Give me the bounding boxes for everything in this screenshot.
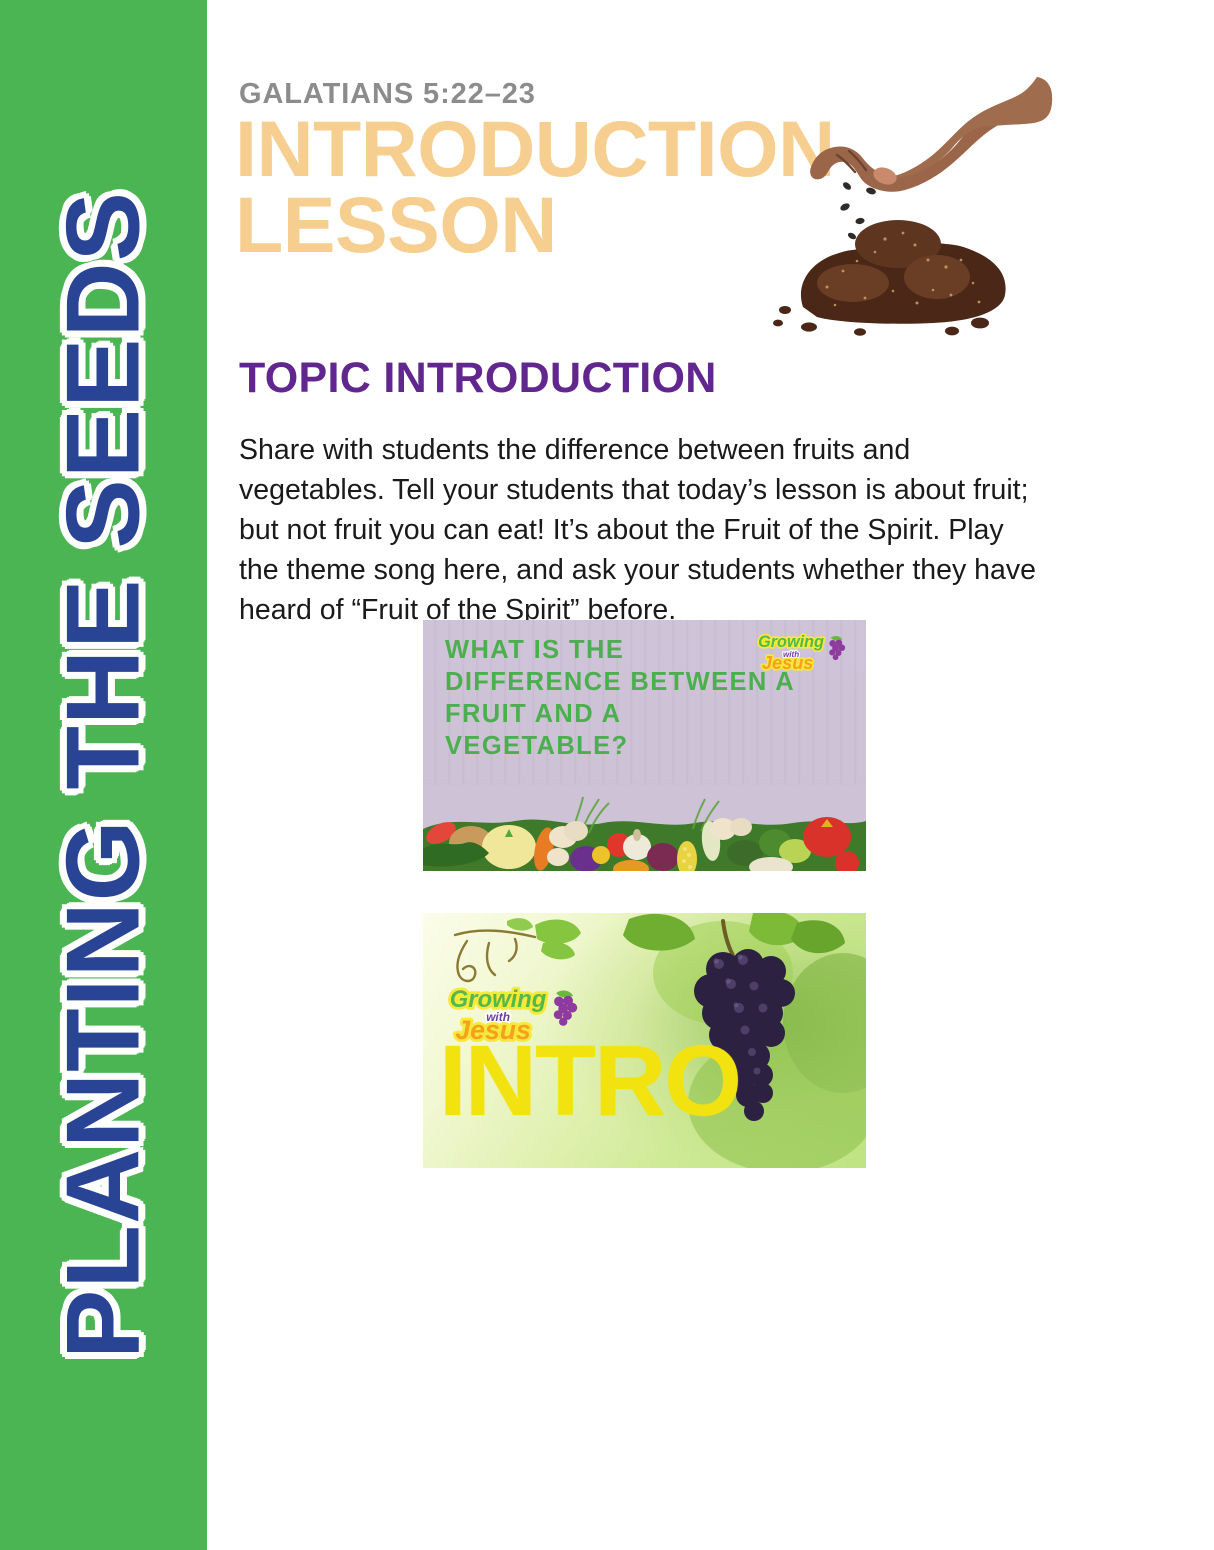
main-content: GALATIANS 5:22–23 INTRODUCTION LESSON — [239, 0, 1214, 1550]
thumbnail-headline: INTRO — [439, 1031, 740, 1131]
svg-text:Jesus: Jesus — [762, 653, 813, 673]
section-body-text: Share with students the difference betwe… — [239, 430, 1051, 630]
section-side-band: PLANTING THE SEEDS — [0, 0, 207, 1550]
growing-with-jesus-logo-icon: Growing Growing with with Jesus Jesus — [756, 630, 852, 674]
svg-text:Growing: Growing — [450, 986, 547, 1013]
page-title: INTRODUCTION LESSON — [235, 111, 855, 263]
side-band-label: PLANTING THE SEEDS — [44, 191, 163, 1359]
thumbnail-headline: WHAT IS THE DIFFERENCE BETWEEN A FRUIT A… — [445, 634, 805, 762]
section-heading: TOPIC INTRODUCTION — [239, 354, 717, 403]
fruit-vs-vegetable-thumbnail[interactable]: WHAT IS THE DIFFERENCE BETWEEN A FRUIT A… — [423, 620, 866, 871]
hand-planting-seeds-icon — [765, 55, 1065, 355]
lesson-page: PLANTING THE SEEDS GALATIANS 5:22–23 INT… — [0, 0, 1214, 1550]
svg-text:Growing: Growing — [758, 633, 824, 651]
vegetable-photo-strip — [423, 785, 866, 871]
intro-video-thumbnail[interactable]: Growing Growing with with Jesus Jesus — [423, 913, 866, 1168]
page-title-line-2: LESSON — [235, 180, 557, 269]
